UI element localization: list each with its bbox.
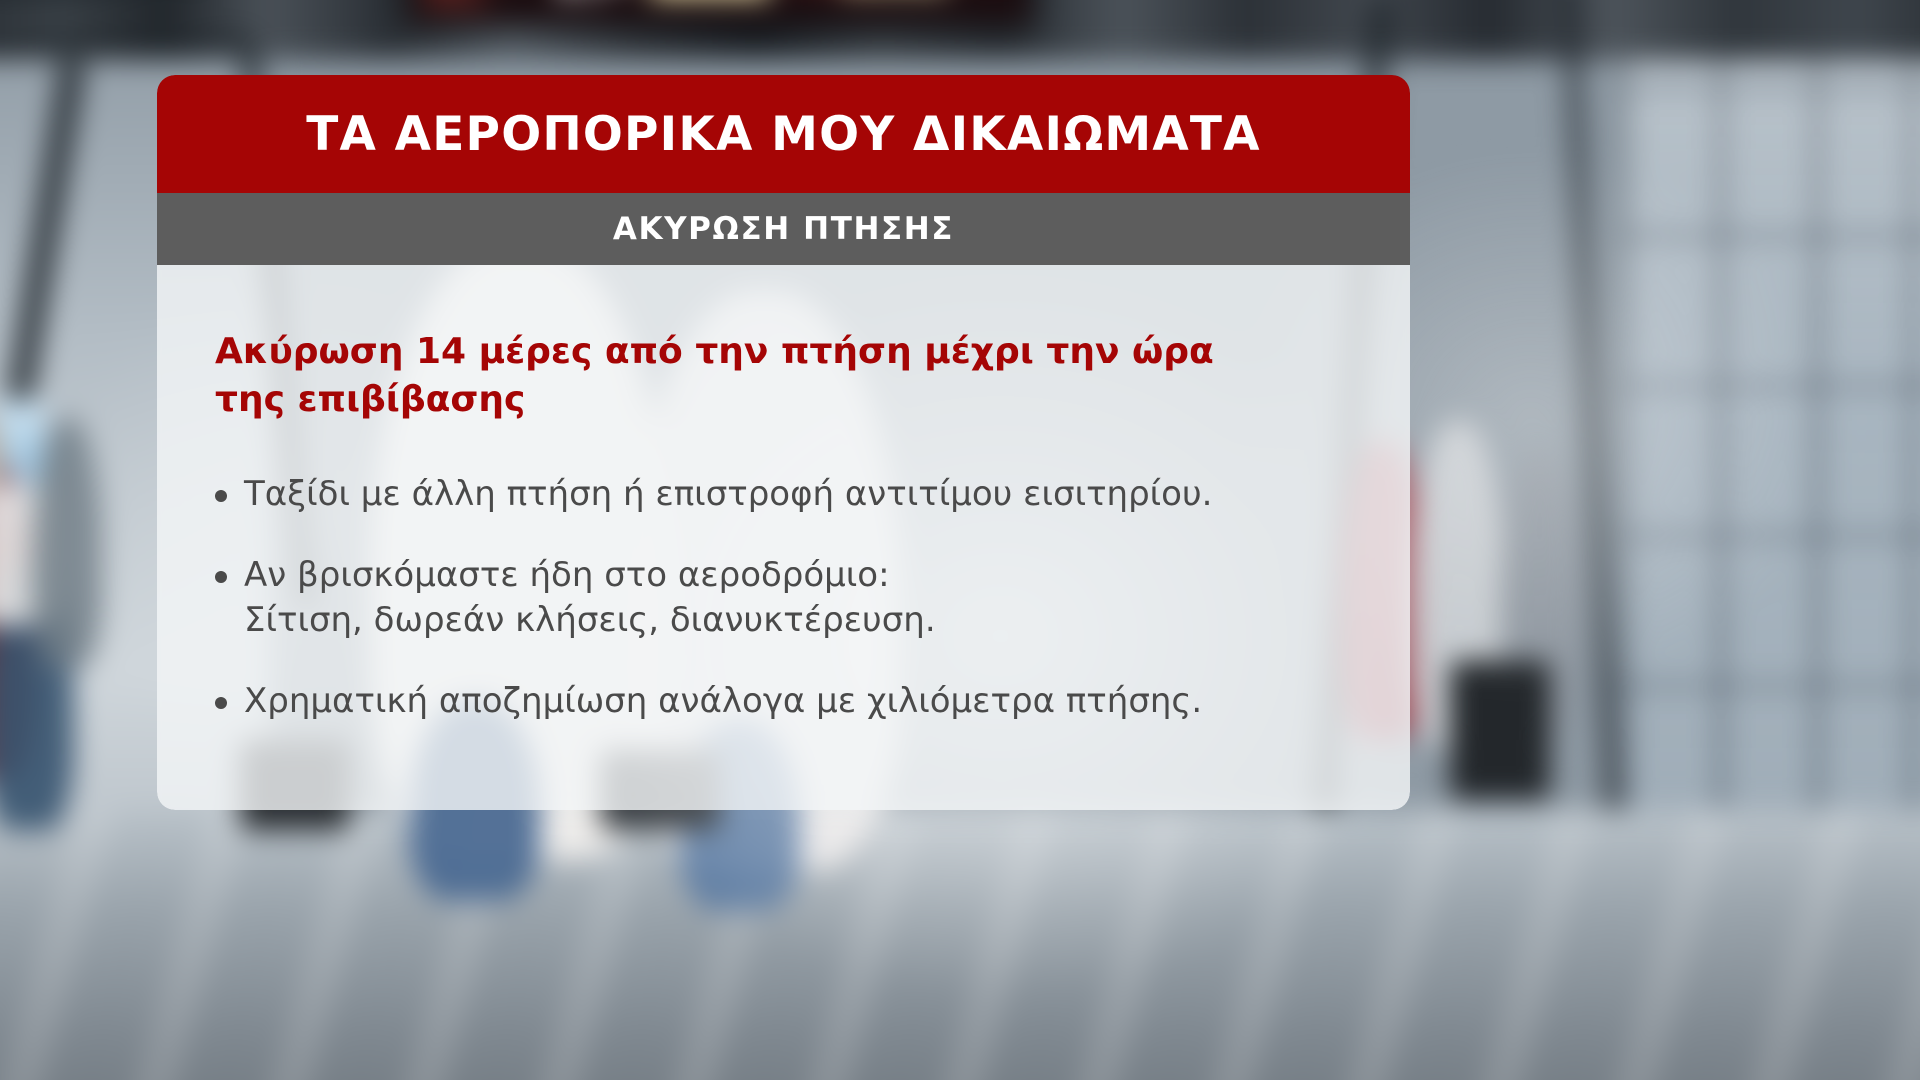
page-title: ΤΑ ΑΕΡΟΠΟΡΙΚΑ ΜΟΥ ΔΙΚΑΙΩΜΑΤΑ [306, 107, 1260, 162]
list-item-label: Αν βρισκόμαστε ήδη στο αεροδρόμιο: Σίτισ… [244, 553, 936, 643]
card-subtitle: ΑΚΥΡΩΣΗ ΠΤΗΣΗΣ [613, 211, 954, 247]
card-body: Ακύρωση 14 μέρες από την πτήση μέχρι την… [157, 265, 1410, 810]
card-header-band: ΤΑ ΑΕΡΟΠΟΡΙΚΑ ΜΟΥ ΔΙΚΑΙΩΜΑΤΑ [157, 75, 1410, 193]
card-subheader-band: ΑΚΥΡΩΣΗ ΠΤΗΣΗΣ [157, 193, 1410, 265]
body-heading: Ακύρωση 14 μέρες από την πτήση μέχρι την… [215, 328, 1255, 424]
rights-info-card: ΤΑ ΑΕΡΟΠΟΡΙΚΑ ΜΟΥ ΔΙΚΑΙΩΜΑΤΑ ΑΚΥΡΩΣΗ ΠΤΗ… [157, 75, 1410, 810]
list-item-label: Χρηματική αποζημίωση ανάλογα με χιλιόμετ… [244, 679, 1202, 724]
bullet-dot-icon [215, 697, 227, 709]
list-item-label: Ταξίδι με άλλη πτήση ή επιστροφή αντιτίμ… [244, 472, 1212, 517]
bullet-dot-icon [215, 571, 227, 583]
list-item: Χρηματική αποζημίωση ανάλογα με χιλιόμετ… [215, 679, 1352, 724]
list-item: Αν βρισκόμαστε ήδη στο αεροδρόμιο: Σίτισ… [215, 553, 1352, 643]
rights-bullet-list: Ταξίδι με άλλη πτήση ή επιστροφή αντιτίμ… [215, 472, 1352, 725]
bullet-dot-icon [215, 490, 227, 502]
list-item: Ταξίδι με άλλη πτήση ή επιστροφή αντιτίμ… [215, 472, 1352, 517]
